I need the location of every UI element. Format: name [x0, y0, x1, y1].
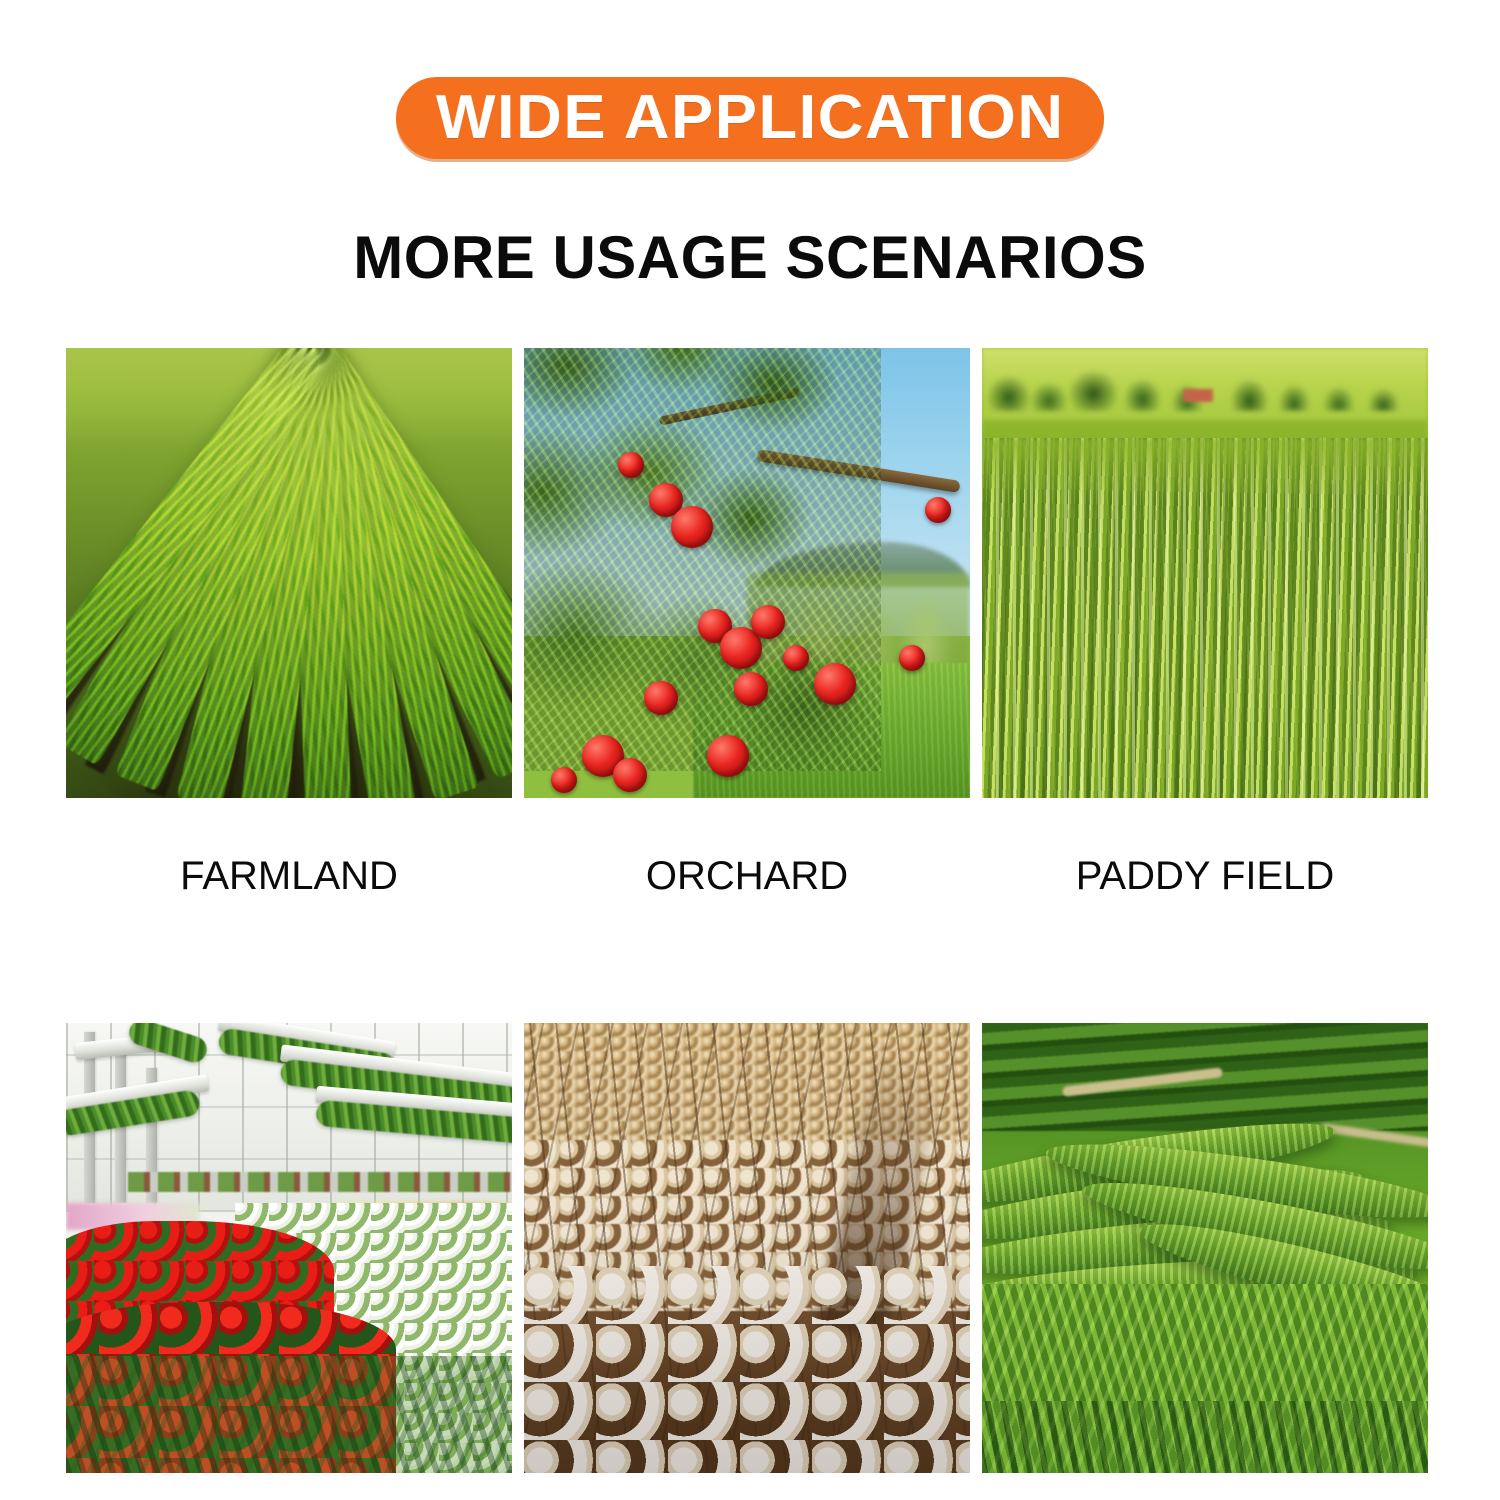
orchard-foliage	[524, 348, 881, 771]
caption-cotton-field: COTTON FIELD	[524, 1473, 970, 1500]
cotton-warm-tone-overlay	[524, 1023, 970, 1473]
apple-icon	[899, 645, 925, 671]
scenario-cell-paddy-field: PADDY FIELD	[982, 348, 1428, 896]
scenario-cell-tea-garden: TEA GARDEN	[982, 1023, 1428, 1500]
apple-icon	[613, 758, 647, 792]
scenario-cell-nursery: NURSERY	[66, 1023, 512, 1500]
caption-orchard: ORCHARD	[524, 798, 970, 896]
apple-icon	[551, 767, 577, 793]
caption-nursery: NURSERY	[66, 1473, 512, 1500]
caption-tea-garden: TEA GARDEN	[982, 1473, 1428, 1500]
paddy-field-photo	[982, 348, 1428, 798]
apple-icon	[783, 645, 809, 671]
apple-icon	[734, 672, 768, 706]
apple-icon	[618, 452, 644, 478]
tea-garden-photo	[982, 1023, 1428, 1473]
paddy-farmhouse-roof	[1183, 389, 1213, 402]
banner-label: WIDE APPLICATION	[436, 87, 1065, 149]
apple-icon	[814, 663, 856, 705]
paddy-depth-blur	[982, 438, 1428, 501]
apple-icon	[925, 497, 951, 523]
wide-application-infographic: WIDE APPLICATION MORE USAGE SCENARIOS	[0, 0, 1500, 1500]
apple-icon	[707, 735, 749, 777]
nursery-bench-row	[128, 1172, 512, 1192]
scenario-cell-cotton-field: COTTON FIELD	[524, 1023, 970, 1500]
farmland-photo	[66, 348, 512, 798]
tea-foreground-leaves	[982, 1401, 1428, 1473]
wide-application-banner: WIDE APPLICATION	[396, 77, 1104, 159]
nursery-foreground-leaves	[66, 1356, 512, 1473]
caption-paddy-field: PADDY FIELD	[982, 798, 1428, 896]
scenario-cell-farmland: FARMLAND	[66, 348, 512, 896]
orchard-photo	[524, 348, 970, 798]
page-title: MORE USAGE SCENARIOS	[0, 228, 1500, 288]
nursery-photo	[66, 1023, 512, 1473]
apple-icon	[751, 605, 785, 639]
banner-container: WIDE APPLICATION	[0, 77, 1500, 159]
caption-farmland: FARMLAND	[66, 798, 512, 896]
apple-icon	[671, 506, 713, 548]
scenario-cell-orchard: ORCHARD	[524, 348, 970, 896]
cotton-field-photo	[524, 1023, 970, 1473]
scenario-grid: FARMLAND	[66, 348, 1428, 1500]
